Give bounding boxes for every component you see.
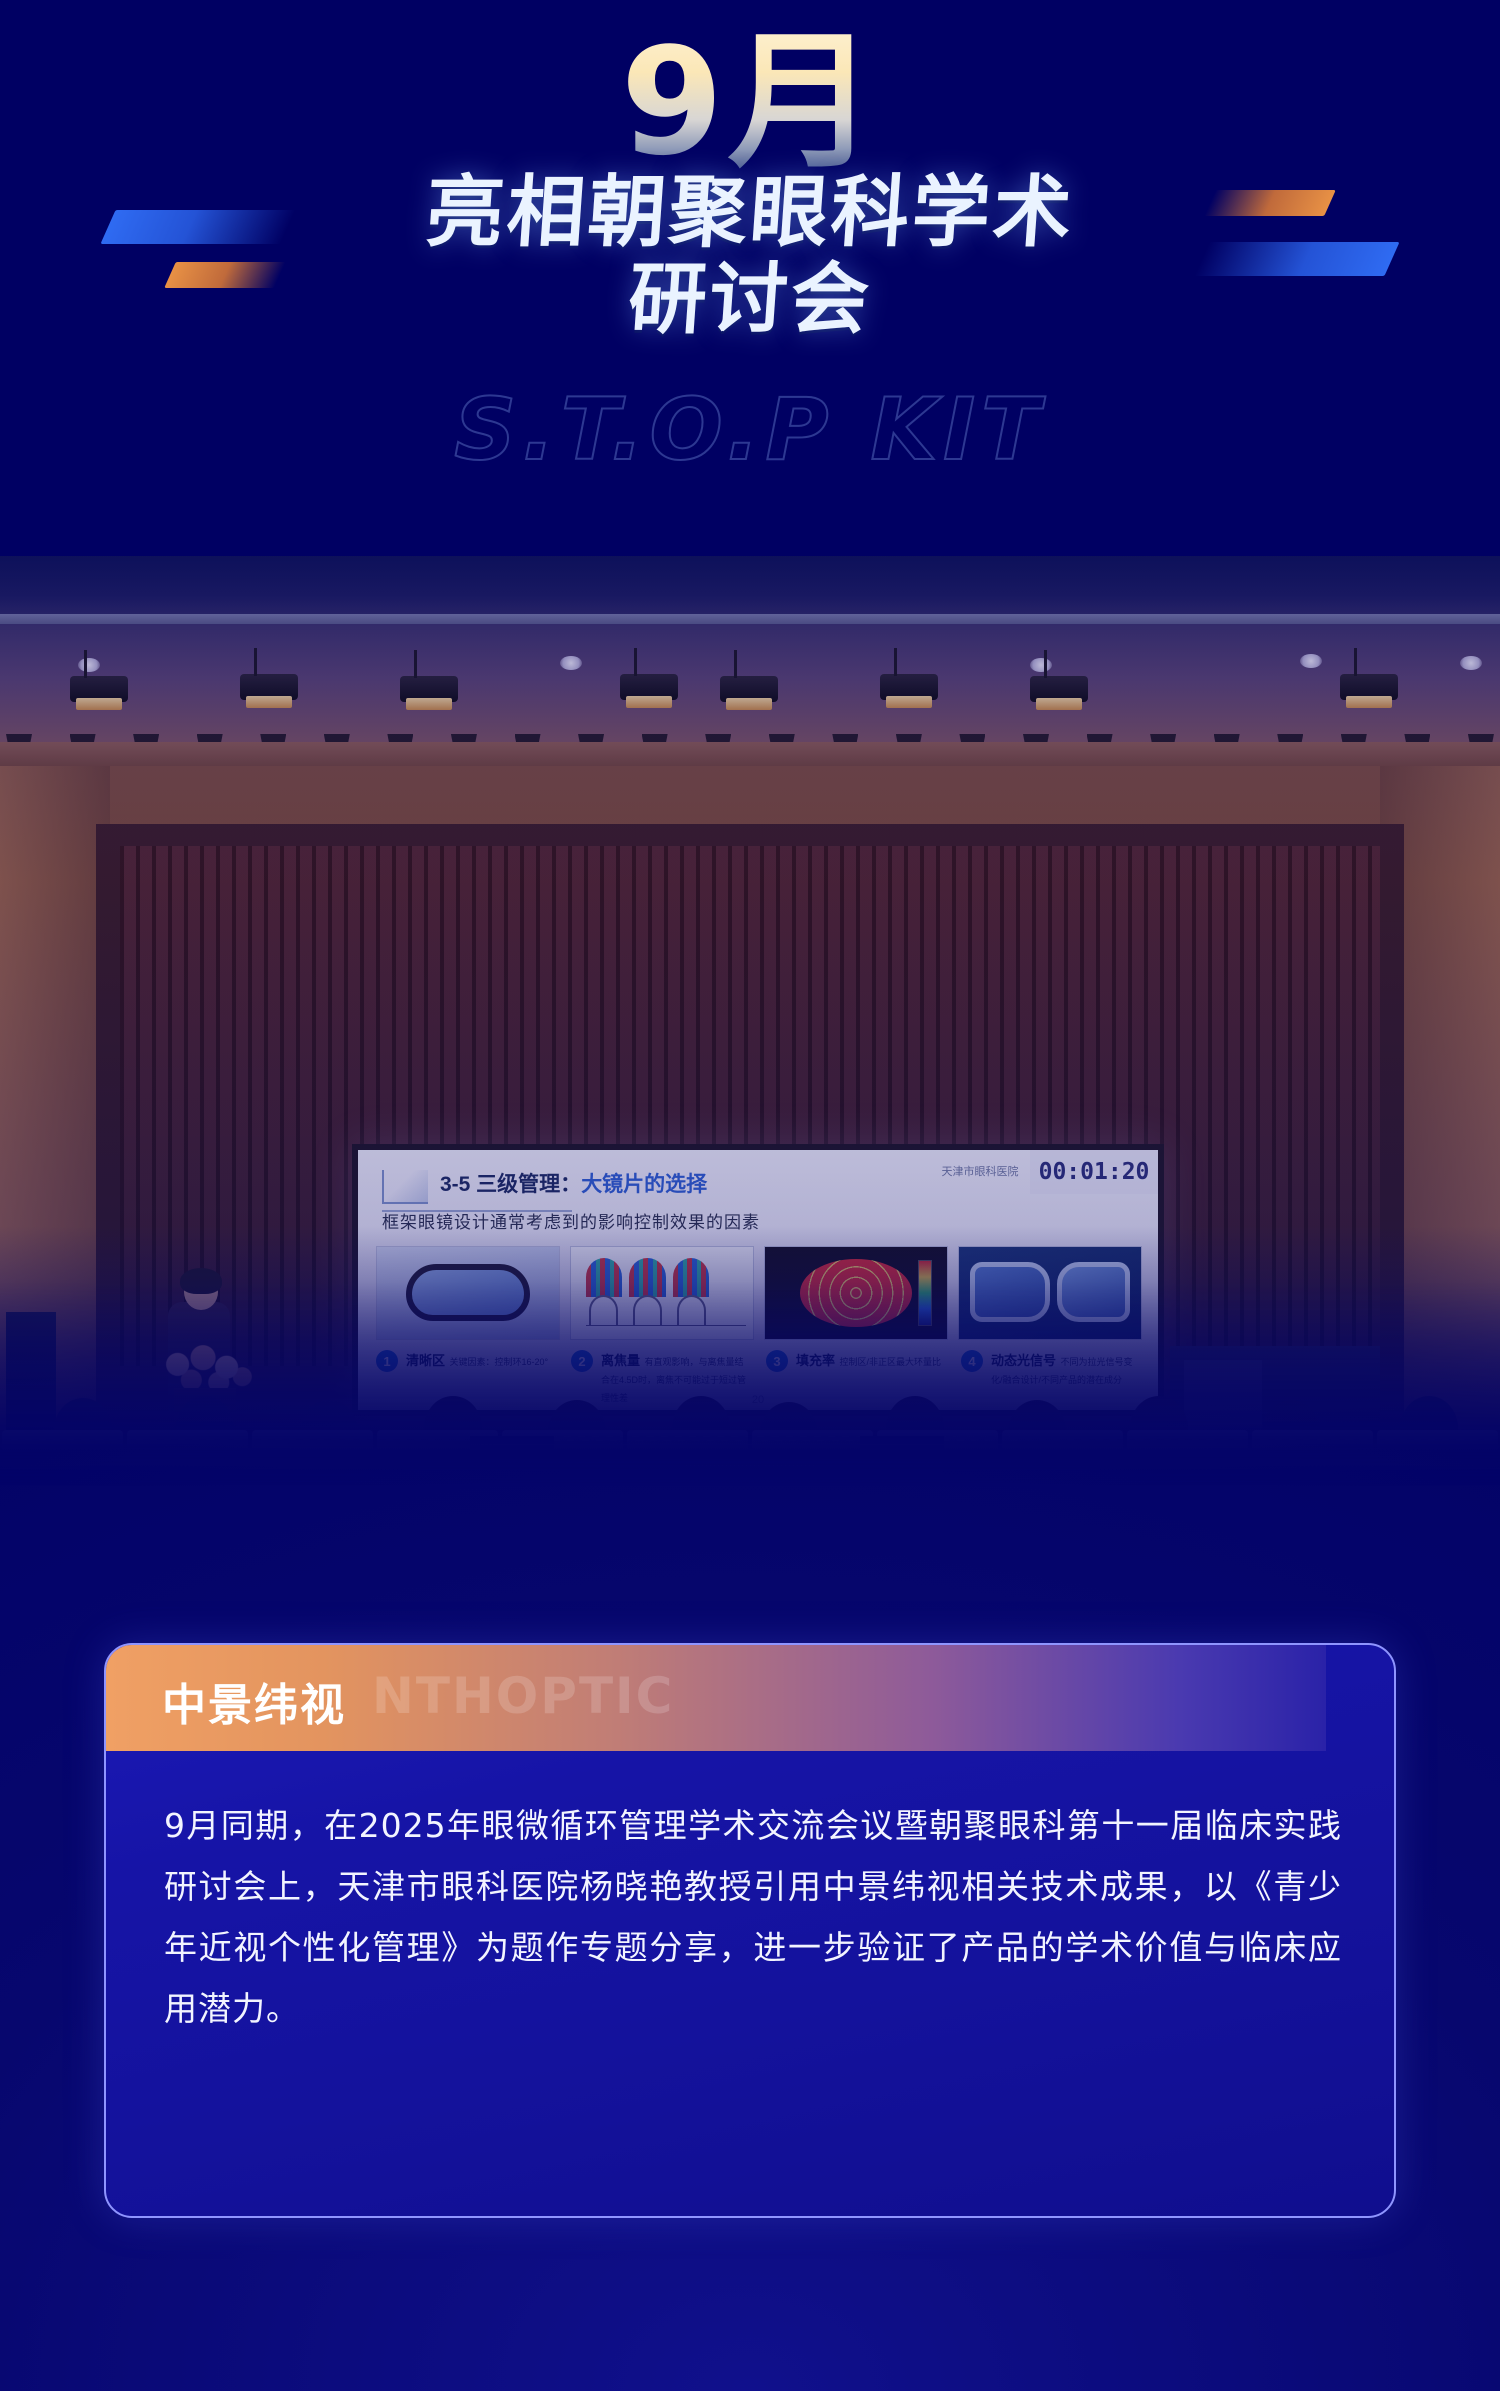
photo-scene: 3-5 三级管理：大镜片的选择 框架眼镜设计通常考虑到的影响控制效果的因素 天津… <box>0 556 1500 1486</box>
hero-section: 9月 亮相朝聚眼科学术 研讨会 S.T.O.P KIT <box>0 0 1500 560</box>
card-brand-badge: NTHOPTIC 中景纬视 <box>104 1643 1326 1751</box>
event-photo: 3-5 三级管理：大镜片的选择 框架眼镜设计通常考虑到的影响控制效果的因素 天津… <box>0 556 1500 1486</box>
photo-bottom-fade <box>0 1226 1500 1486</box>
brand-name-label: 中景纬视 <box>162 1669 346 1733</box>
hero-title: 亮相朝聚眼科学术 研讨会 <box>0 170 1500 345</box>
brand-watermark: NTHOPTIC <box>372 1667 674 1725</box>
hero-title-line-1: 亮相朝聚眼科学术 <box>0 170 1500 257</box>
hero-watermark-text: S.T.O.P KIT <box>0 380 1500 480</box>
card-body-text: 9月同期，在2025年眼微循环管理学术交流会议暨朝聚眼科第十一届临床实践研讨会上… <box>164 1795 1342 2039</box>
info-card: NTHOPTIC 中景纬视 9月同期，在2025年眼微循环管理学术交流会议暨朝聚… <box>104 1643 1396 2218</box>
hero-title-line-2: 研讨会 <box>0 257 1500 344</box>
